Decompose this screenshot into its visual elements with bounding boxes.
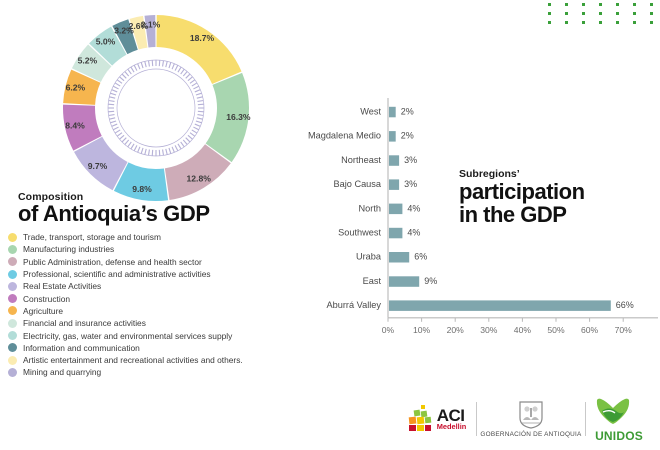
donut-ring-tick	[117, 80, 122, 84]
donut-ring-tick	[197, 100, 203, 101]
decorative-dot	[582, 3, 585, 6]
donut-ring-tick	[110, 93, 116, 95]
bar	[389, 276, 419, 287]
donut-ring-tick	[183, 72, 187, 77]
donut-slice-label: 5.0%	[96, 36, 116, 46]
bar-value-label: 4%	[407, 227, 420, 237]
donut-slice-label: 9.7%	[88, 161, 108, 171]
decorative-dot	[650, 21, 653, 24]
aci-subtext: Medellin	[437, 423, 467, 431]
bar-chart-category-labels: WestMagdalena MedioNortheastBajo CausaNo…	[308, 107, 382, 311]
donut-ring-tick	[148, 61, 149, 67]
donut-ring-tick	[120, 135, 125, 139]
donut-ring-tick	[128, 142, 132, 147]
donut-ring-tick	[117, 133, 122, 137]
bar-category-label: North	[359, 203, 381, 213]
bar-category-label: Aburrá Valley	[327, 300, 382, 310]
unidos-heart-icon	[595, 397, 631, 425]
donut-ring-tick	[122, 74, 126, 78]
legend-item-label: Artistic entertainment and recreational …	[23, 355, 243, 365]
donut-ring-tick	[169, 62, 171, 68]
donut-ring-tick	[125, 140, 129, 145]
legend-item-label: Construction	[23, 294, 70, 304]
decorative-dot	[582, 21, 585, 24]
legend-swatch-icon	[8, 257, 17, 266]
legend-item-label: Real Estate Activities	[23, 281, 101, 291]
legend-swatch-icon	[8, 245, 17, 254]
donut-slice-label: 5.2%	[78, 56, 98, 66]
donut-ring-tick	[113, 127, 118, 130]
legend-item: Construction	[6, 292, 306, 304]
decorative-dot	[565, 3, 568, 6]
bar-xtick-label: 30%	[480, 325, 498, 335]
decorative-dot	[633, 21, 636, 24]
donut-ring-tick	[138, 64, 140, 70]
bar-xtick-label: 70%	[615, 325, 633, 335]
donut-slice-label: 8.4%	[65, 120, 85, 130]
logo-aci-medellin: ACI Medellin	[398, 395, 476, 443]
decorative-dot	[616, 12, 619, 15]
donut-ring-tick	[175, 145, 178, 150]
decorative-dot	[548, 21, 551, 24]
donut-ring-tick	[196, 93, 202, 95]
bar-category-label: East	[363, 276, 382, 286]
bar-value-label: 66%	[616, 300, 634, 310]
bar-chart-xticks: 0%10%20%30%40%50%60%70%	[382, 318, 632, 335]
bar-value-label: 2%	[401, 131, 414, 141]
legend-item-label: Manufacturing industries	[23, 244, 114, 254]
bar-xtick-label: 50%	[547, 325, 565, 335]
gobernacion-wordmark: GOBERNACIÓN DE ANTIOQUIA	[480, 431, 581, 438]
decorative-dot	[599, 3, 602, 6]
donut-ring-tick	[190, 80, 195, 84]
bar-value-label: 4%	[407, 203, 420, 213]
bar-xtick-label: 10%	[413, 325, 431, 335]
legend-item-label: Agriculture	[23, 306, 63, 316]
bar-xtick-label: 20%	[447, 325, 465, 335]
donut-ring-tick	[109, 115, 115, 116]
donut-ring-tick	[193, 86, 198, 89]
legend-item-label: Information and communication	[23, 343, 140, 353]
donut-ring-tick	[178, 144, 181, 149]
decorative-dot	[616, 3, 619, 6]
decorative-dot	[599, 21, 602, 24]
donut-ring-tick	[141, 148, 143, 154]
aci-blocks-icon	[408, 404, 434, 434]
donut-ring-tick	[188, 77, 193, 81]
bar-value-label: 3%	[404, 179, 417, 189]
gdp-title-main: of Antioquia’s GDP	[18, 202, 318, 226]
decorative-dot	[650, 12, 653, 15]
donut-ring-tick	[181, 142, 185, 147]
logo-gobernacion-antioquia: GOBERNACIÓN DE ANTIOQUIA	[477, 395, 585, 443]
bar-category-label: Northeast	[341, 155, 381, 165]
legend-item: Trade, transport, storage and tourism	[6, 231, 306, 243]
donut-ring-tick	[192, 83, 197, 86]
bar	[389, 204, 402, 215]
donut-ring-tick	[175, 65, 178, 70]
donut-ring-tick	[183, 140, 187, 145]
infographic-root: 18.7%16.3%12.8%9.8%9.7%8.4%6.2%5.2%5.0%3…	[0, 0, 660, 450]
bar-category-label: West	[360, 107, 381, 117]
legend-swatch-icon	[8, 343, 17, 352]
donut-ring-tick	[172, 147, 174, 153]
donut-slice-label: 2.1%	[141, 19, 161, 29]
donut-ring-tick	[128, 69, 132, 74]
legend-item: Public Administration, defense and healt…	[6, 256, 306, 268]
unidos-wordmark: UNIDOS	[595, 430, 643, 442]
legend-item: Real Estate Activities	[6, 280, 306, 292]
donut-ring-tick	[115, 130, 120, 133]
decorative-dot	[565, 21, 568, 24]
donut-ring-tick	[134, 65, 137, 70]
bar-xtick-label: 0%	[382, 325, 395, 335]
donut-ring-tick	[110, 121, 116, 123]
bar	[389, 107, 396, 118]
donut-ring-tick	[120, 77, 125, 81]
donut-ring-tick	[113, 86, 118, 89]
donut-ring-tick	[166, 61, 167, 67]
legend-swatch-icon	[8, 282, 17, 291]
bar-xtick-label: 60%	[581, 325, 599, 335]
decorative-dot	[633, 3, 636, 6]
donut-ring-tick	[134, 145, 137, 150]
decorative-dot	[548, 3, 551, 6]
decorative-dot	[616, 21, 619, 24]
donut-ring-tick	[196, 121, 202, 123]
aci-wordmark: ACI	[437, 408, 467, 423]
bar	[389, 300, 611, 311]
legend-item-label: Electricity, gas, water and environmenta…	[23, 331, 232, 341]
donut-ring-tick	[197, 118, 203, 119]
legend-swatch-icon	[8, 319, 17, 328]
decorative-dot	[633, 12, 636, 15]
legend-item: Mining and quarrying	[6, 366, 306, 378]
gdp-composition-donut-chart: 18.7%16.3%12.8%9.8%9.7%8.4%6.2%5.2%5.0%3…	[57, 8, 257, 208]
bar-title-block: Subregions’ participation in the GDP	[459, 168, 659, 226]
antioquia-shield-icon	[518, 401, 544, 429]
legend-item: Artistic entertainment and recreational …	[6, 354, 306, 366]
bar-title-line2: in the GDP	[459, 203, 659, 226]
donut-svg: 18.7%16.3%12.8%9.8%9.7%8.4%6.2%5.2%5.0%3…	[57, 8, 257, 208]
donut-ring-tick	[193, 127, 198, 130]
donut-ring-tick	[190, 133, 195, 137]
donut-ring-tick	[197, 97, 203, 98]
decorative-dot	[650, 3, 653, 6]
donut-ring-tick	[148, 149, 149, 155]
legend-item: Electricity, gas, water and environmenta…	[6, 329, 306, 341]
bar	[389, 155, 399, 166]
donut-ring-tick	[109, 118, 115, 119]
donut-slice	[156, 15, 241, 84]
donut-ring-tick	[186, 138, 190, 142]
bar-xtick-label: 40%	[514, 325, 532, 335]
bar-title-line1: participation	[459, 180, 659, 203]
donut-ring-tick	[145, 61, 146, 67]
legend-item-label: Professional, scientific and administrat…	[23, 269, 211, 279]
legend-swatch-icon	[8, 368, 17, 377]
legend-swatch-icon	[8, 233, 17, 242]
donut-ring-tick	[178, 67, 181, 72]
legend-swatch-icon	[8, 356, 17, 365]
donut-inner-ring	[108, 60, 204, 156]
donut-ring-tick	[169, 148, 171, 154]
donut-slice-label: 6.2%	[66, 83, 86, 93]
bar	[389, 131, 396, 142]
donut-ring-tick	[163, 149, 164, 155]
bar	[389, 179, 399, 190]
bar-value-label: 6%	[414, 252, 427, 262]
gdp-title-block: Composition of Antioquia’s GDP	[18, 191, 318, 226]
donut-ring-tick	[192, 130, 197, 133]
donut-ring-tick	[122, 138, 126, 142]
footer-logos: ACI Medellin GOBERNACIÓN DE ANTIOQUIA	[398, 392, 656, 446]
donut-ring-tick	[109, 100, 115, 101]
donut-ring-tick	[181, 69, 185, 74]
donut-ring-tick	[141, 62, 143, 68]
donut-ring-tick	[138, 147, 140, 153]
donut-slice-label: 12.8%	[187, 173, 212, 183]
donut-slice-label: 16.3%	[226, 112, 251, 122]
legend-swatch-icon	[8, 331, 17, 340]
legend-swatch-icon	[8, 306, 17, 315]
legend-item-label: Public Administration, defense and healt…	[23, 257, 202, 267]
donut-ring-tick	[186, 74, 190, 78]
donut-ring-tick	[195, 124, 201, 126]
donut-ring-tick	[197, 115, 203, 116]
bar	[389, 228, 402, 239]
donut-ring-tick	[172, 64, 174, 70]
donut-ring-tick	[115, 83, 120, 86]
donut-slice-label: 18.7%	[190, 33, 215, 43]
decorative-dot	[599, 12, 602, 15]
donut-ring-tick	[195, 90, 201, 92]
legend-item: Agriculture	[6, 305, 306, 317]
legend-item: Financial and insurance activities	[6, 317, 306, 329]
legend-item-label: Mining and quarrying	[23, 367, 101, 377]
logo-unidos: UNIDOS	[586, 395, 652, 443]
bar-value-label: 9%	[424, 276, 437, 286]
decorative-dot	[565, 12, 568, 15]
legend-item: Professional, scientific and administrat…	[6, 268, 306, 280]
donut-ring-tick	[163, 61, 164, 67]
donut-ring-tick	[188, 135, 193, 139]
bar-value-label: 2%	[401, 106, 414, 116]
legend-swatch-icon	[8, 270, 17, 279]
bar-value-label: 3%	[404, 155, 417, 165]
donut-ring-tick	[125, 72, 129, 77]
donut-slices	[63, 15, 249, 201]
legend-item: Information and communication	[6, 342, 306, 354]
donut-ring-tick	[131, 144, 134, 149]
bar-category-label: Southwest	[338, 228, 381, 238]
legend-item: Manufacturing industries	[6, 243, 306, 255]
bar-category-label: Bajo Causa	[334, 179, 382, 189]
decorative-dot-grid	[548, 3, 660, 29]
donut-ring-tick	[112, 90, 118, 92]
donut-ring-tick	[112, 124, 118, 126]
donut-ring-tick	[145, 149, 146, 155]
gdp-legend: Trade, transport, storage and tourismMan…	[6, 231, 306, 379]
donut-ring-tick	[131, 67, 134, 72]
bar-category-label: Uraba	[356, 252, 382, 262]
donut-ring-tick	[109, 97, 115, 98]
decorative-dot	[548, 12, 551, 15]
bar-category-label: Magdalena Medio	[308, 131, 381, 141]
decorative-dot	[582, 12, 585, 15]
legend-item-label: Financial and insurance activities	[23, 318, 146, 328]
legend-swatch-icon	[8, 294, 17, 303]
legend-item-label: Trade, transport, storage and tourism	[23, 232, 161, 242]
donut-ring-tick	[166, 149, 167, 155]
bar	[389, 252, 409, 263]
